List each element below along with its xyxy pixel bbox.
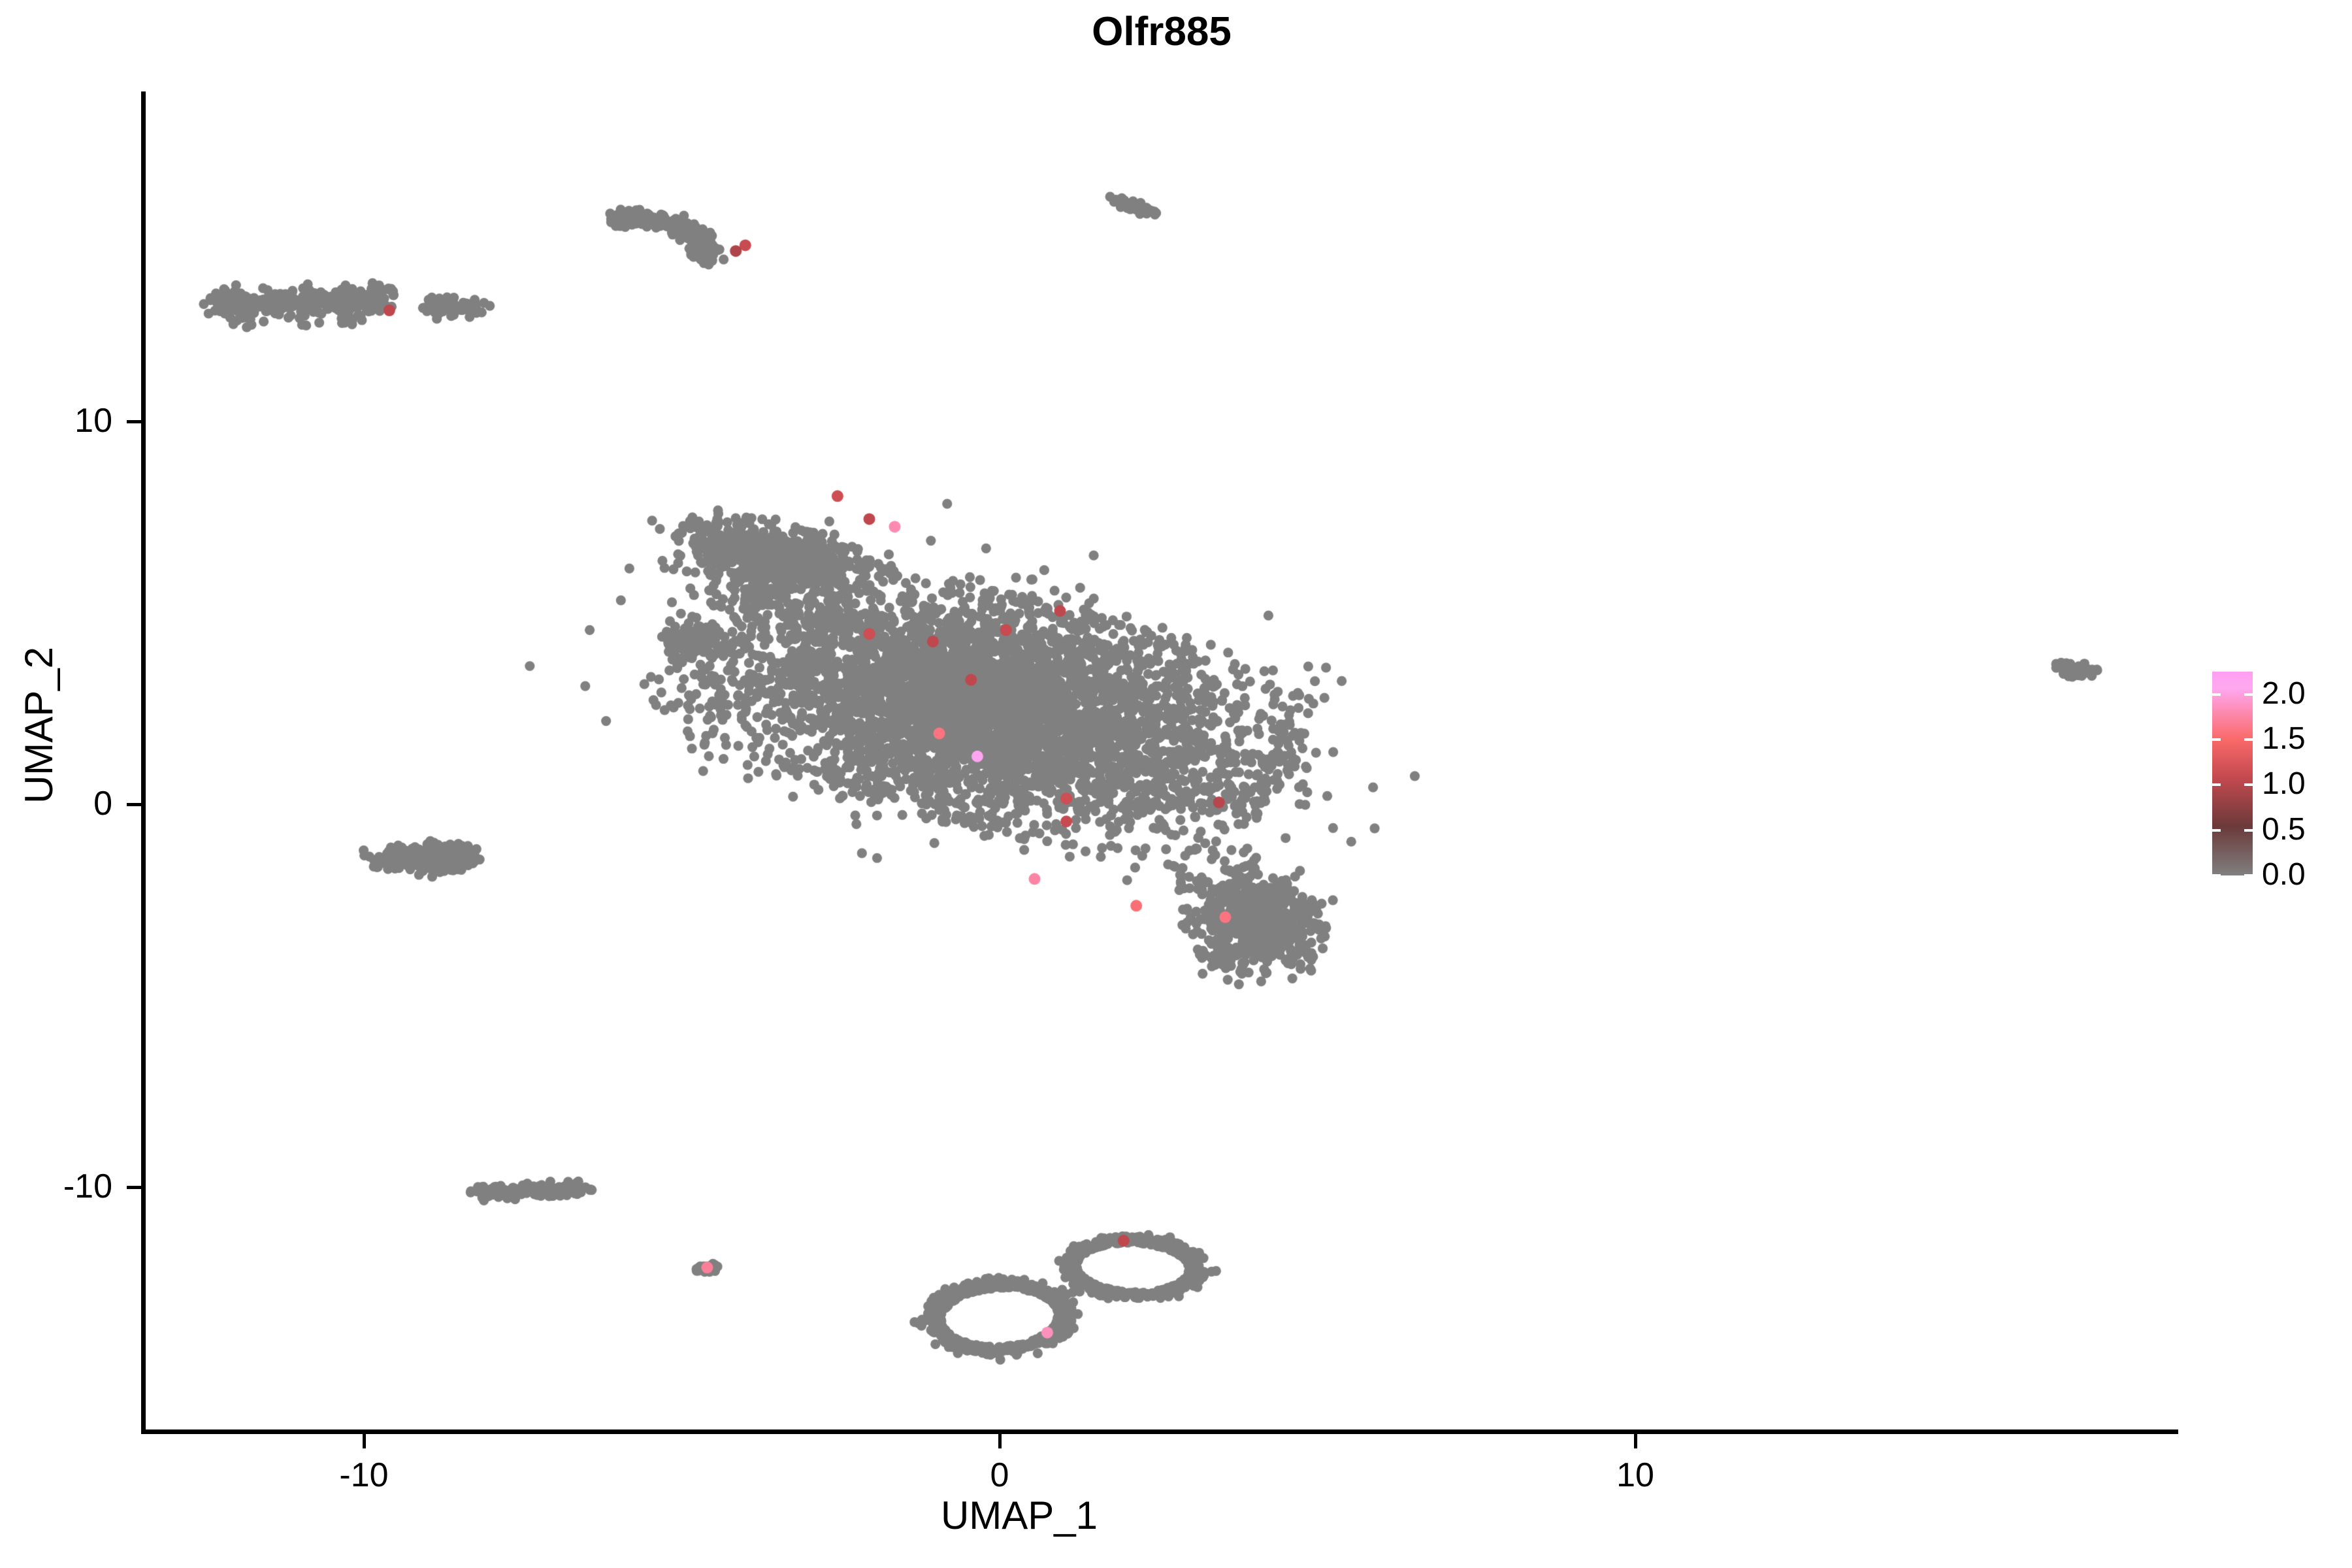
- x-tick-mark: [1634, 1434, 1637, 1448]
- scatter-plot-canvas: [145, 91, 2177, 1431]
- y-tick-mark: [127, 1186, 141, 1189]
- plot-panel: [145, 91, 2177, 1431]
- colorbar-tick-mark: [2212, 829, 2221, 832]
- legend-colorbar: 2.01.51.00.50.0: [2212, 672, 2330, 894]
- colorbar-tick-label: 2.0: [2262, 678, 2306, 710]
- x-axis-line: [141, 1429, 2178, 1434]
- colorbar-tick-label: 0.0: [2262, 859, 2306, 890]
- colorbar-tick-mark: [2244, 874, 2253, 877]
- y-tick-label: 10: [0, 404, 112, 438]
- x-tick-label: 0: [928, 1458, 1071, 1492]
- colorbar-tick-label: 1.0: [2262, 768, 2306, 800]
- colorbar-tick-label: 1.5: [2262, 723, 2306, 755]
- x-tick-label: 10: [1563, 1458, 1707, 1492]
- colorbar-tick-mark: [2212, 738, 2221, 741]
- y-axis-line: [141, 91, 146, 1433]
- colorbar-tick-label: 0.5: [2262, 814, 2306, 845]
- colorbar-tick-mark: [2212, 693, 2221, 696]
- x-tick-mark: [998, 1434, 1002, 1448]
- colorbar-tick-mark: [2244, 693, 2253, 696]
- x-tick-mark: [363, 1434, 366, 1448]
- colorbar-tick-mark: [2244, 738, 2253, 741]
- y-tick-mark: [127, 420, 141, 423]
- x-axis-title: UMAP_1: [882, 1496, 1156, 1535]
- page-title: Olfr885: [0, 12, 2338, 52]
- colorbar-gradient: [2212, 672, 2253, 875]
- colorbar-tick-mark: [2244, 783, 2253, 786]
- colorbar-tick-mark: [2244, 829, 2253, 832]
- y-tick-mark: [127, 803, 141, 806]
- y-tick-label: -10: [0, 1169, 112, 1203]
- x-tick-label: -10: [292, 1458, 436, 1492]
- umap-feature-plot: Olfr885 100-10-10010 UMAP_2 UMAP_1 2.01.…: [0, 0, 2352, 1568]
- y-axis-title: UMAP_2: [20, 588, 59, 862]
- colorbar-tick-mark: [2212, 874, 2221, 877]
- colorbar-tick-mark: [2212, 783, 2221, 786]
